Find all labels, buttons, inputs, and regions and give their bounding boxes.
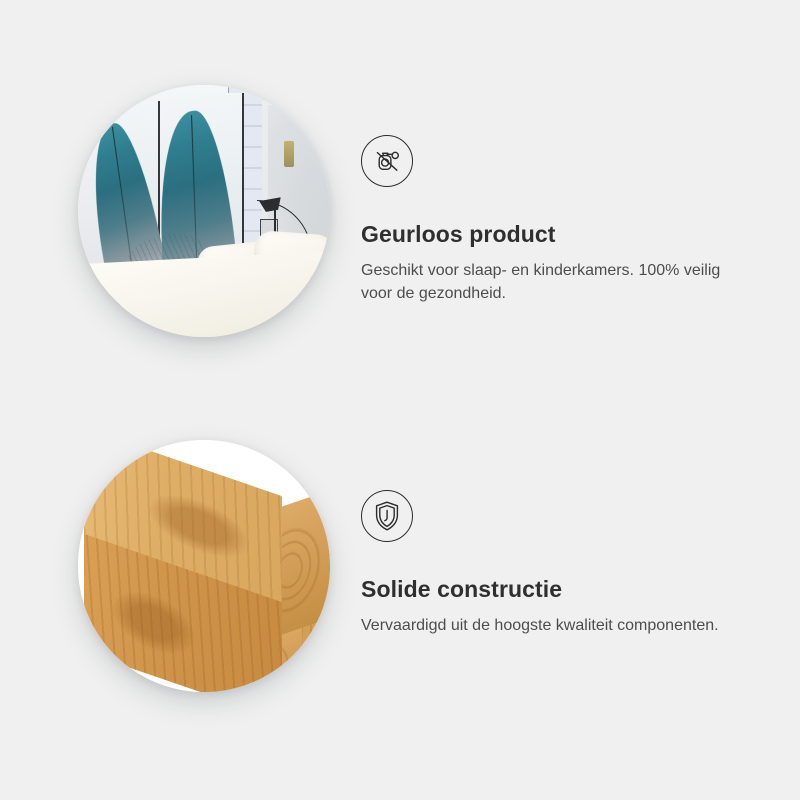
feature-title: Solide constructie	[361, 576, 761, 604]
no-fragrance-glyph	[370, 144, 404, 178]
feature-text-solid-construction: Solide constructie Vervaardigd uit de ho…	[361, 490, 761, 637]
feature-title: Geurloos product	[361, 221, 761, 249]
shield-glyph	[372, 499, 402, 533]
feature-block-solid-construction: Solide constructie Vervaardigd uit de ho…	[0, 390, 800, 750]
wall-decoration	[284, 141, 294, 167]
feature-image-wood	[78, 440, 330, 692]
no-fragrance-icon	[361, 135, 413, 187]
circular-image-mask	[78, 440, 330, 692]
feature-description: Vervaardigd uit de hoogste kwaliteit com…	[361, 614, 749, 637]
beam-large-end-grain	[276, 487, 330, 636]
product-feature-page: Geurloos product Geschikt voor slaap- en…	[0, 0, 800, 800]
shield-icon	[361, 490, 413, 542]
circular-image-mask	[78, 85, 330, 337]
feature-text-scentless: Geurloos product Geschikt voor slaap- en…	[361, 135, 761, 305]
feature-block-scentless: Geurloos product Geschikt voor slaap- en…	[0, 35, 800, 395]
feature-description: Geschikt voor slaap- en kinderkamers. 10…	[361, 259, 749, 305]
feature-image-scentless	[78, 85, 330, 337]
bedroom-scene	[78, 85, 330, 337]
bed-duvet	[78, 249, 330, 337]
wooden-beams-scene	[78, 440, 330, 692]
